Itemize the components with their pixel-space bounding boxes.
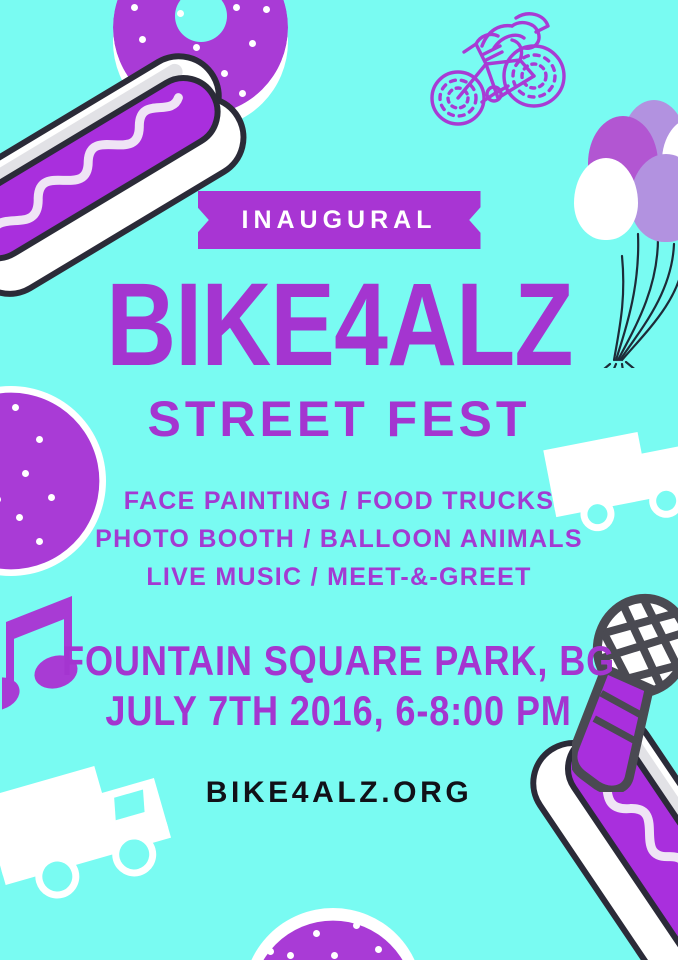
page-title: BIKE4ALZ	[106, 271, 573, 380]
event-poster: INAUGURAL BIKE4ALZ STREET FEST FACE PAIN…	[0, 0, 678, 960]
datetime-text: JULY 7TH 2016, 6-8:00 PM	[62, 686, 615, 736]
activity-line: FACE PAINTING / FOOD TRUCKS	[95, 482, 583, 520]
website-url[interactable]: BIKE4ALZ.ORG	[206, 776, 473, 810]
activity-line: LIVE MUSIC / MEET-&-GREET	[95, 558, 583, 596]
page-subtitle: STREET FEST	[148, 390, 531, 448]
inaugural-ribbon: INAUGURAL	[198, 191, 481, 249]
activity-line: PHOTO BOOTH / BALLOON ANIMALS	[95, 520, 583, 558]
activities-list: FACE PAINTING / FOOD TRUCKS PHOTO BOOTH …	[95, 482, 583, 596]
venue-text: FOUNTAIN SQUARE PARK, BG	[62, 636, 615, 686]
event-details: FOUNTAIN SQUARE PARK, BG JULY 7TH 2016, …	[62, 636, 615, 737]
